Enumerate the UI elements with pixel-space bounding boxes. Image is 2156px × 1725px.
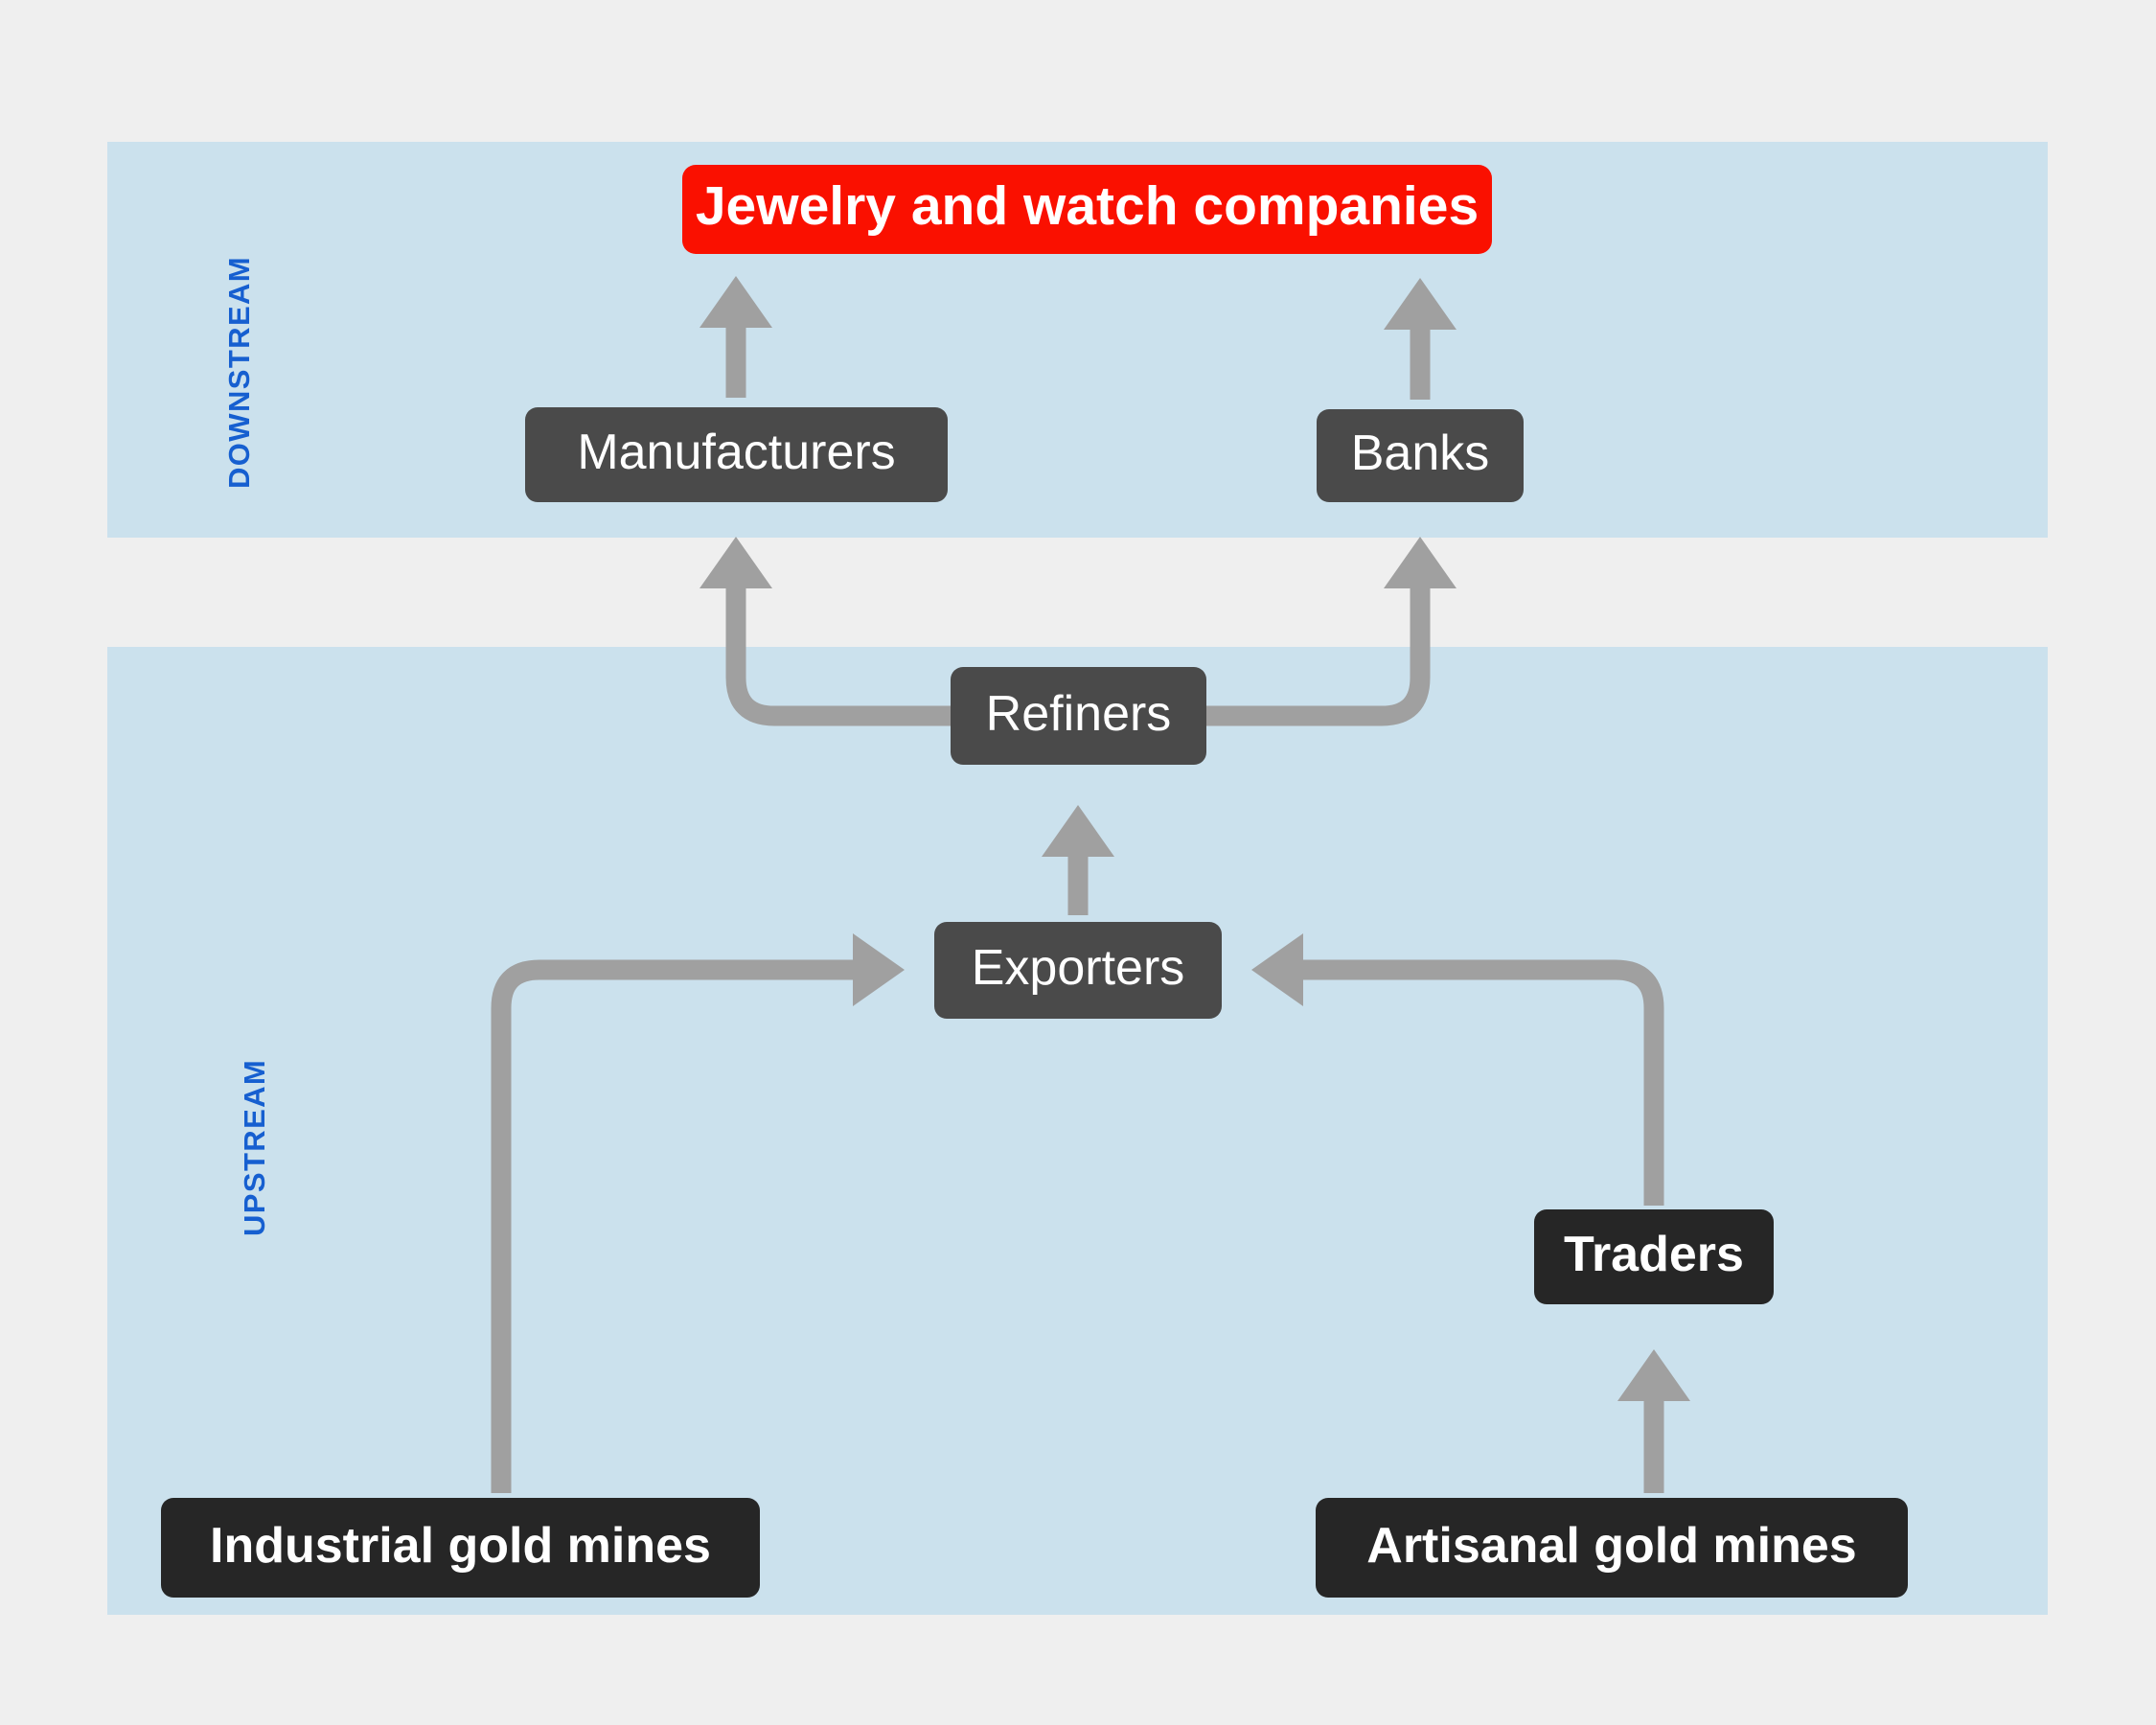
node-jewelry-and-watch-companies[interactable]: Jewelry and watch companies [682,165,1492,254]
node-traders[interactable]: Traders [1534,1209,1774,1304]
node-artisanal-gold-mines[interactable]: Artisanal gold mines [1316,1498,1908,1598]
node-exporters[interactable]: Exporters [934,922,1222,1019]
node-industrial-gold-mines[interactable]: Industrial gold mines [161,1498,760,1598]
band-upstream [107,647,2048,1615]
band-label-upstream: UPSTREAM [238,1059,272,1236]
diagram-canvas: DOWNSTREAM UPSTREAM [0,0,2156,1725]
node-refiners[interactable]: Refiners [951,667,1206,765]
node-banks[interactable]: Banks [1317,409,1524,502]
band-label-downstream: DOWNSTREAM [222,256,257,489]
node-manufacturers[interactable]: Manufacturers [525,407,948,502]
